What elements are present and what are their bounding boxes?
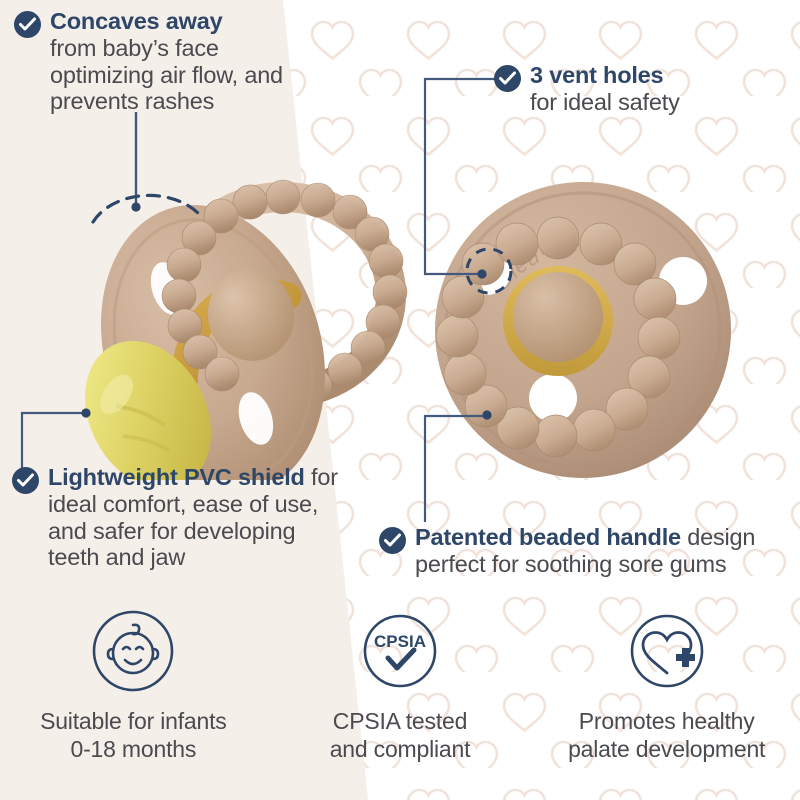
callout-concaves-line2: from baby’s face [50, 35, 283, 62]
pacifier-front-view-illustration: Bleu·La·La [425, 178, 755, 498]
heart-plus-icon [624, 608, 710, 694]
badge-suitable-infants: Suitable for infants 0-18 months [0, 608, 267, 763]
badge-label-line2: and compliant [330, 736, 471, 764]
callout-handle-line1-bold: Patented beaded handle [415, 524, 681, 550]
callout-pvc-line1-rest: for [305, 464, 338, 490]
cpsia-seal-text: CPSIA [374, 632, 426, 651]
cpsia-seal-icon: CPSIA [357, 608, 443, 694]
callout-pvc-line1-bold: Lightweight PVC shield [48, 464, 305, 490]
callout-handle-text: Patented beaded handle design perfect fo… [415, 524, 755, 578]
badge-palate-label: Promotes healthy palate development [568, 708, 765, 763]
badge-label-line2: palate development [568, 736, 765, 764]
callout-concaves-away: Concaves away from baby’s face optimizin… [14, 8, 283, 115]
callout-vent-line1: 3 vent holes [530, 62, 663, 88]
callout-vent-line2: for ideal safety [530, 89, 680, 116]
badge-label-line1: CPSIA tested [330, 708, 471, 736]
callout-beaded-handle: Patented beaded handle design perfect fo… [379, 524, 755, 578]
feature-badge-row: Suitable for infants 0-18 months CPSIA C… [0, 608, 800, 763]
check-circle-icon [12, 467, 39, 494]
callout-pvc-line2: ideal comfort, ease of use, [48, 491, 338, 518]
badge-label-line1: Promotes healthy [568, 708, 765, 736]
badge-label-line1: Suitable for infants [40, 708, 227, 736]
check-circle-icon [379, 527, 406, 554]
badge-cpsia-label: CPSIA tested and compliant [330, 708, 471, 763]
callout-pvc-shield: Lightweight PVC shield for ideal comfort… [12, 464, 338, 571]
check-circle-icon [494, 65, 521, 92]
pacifier-side-view-illustration [38, 160, 418, 480]
baby-face-icon [90, 608, 176, 694]
callout-vent-holes: 3 vent holes for ideal safety [494, 62, 680, 116]
infographic-canvas: Bleu·La·La [0, 0, 800, 800]
callout-concaves-text: Concaves away from baby’s face optimizin… [50, 8, 283, 115]
badge-suitable-infants-label: Suitable for infants 0-18 months [40, 708, 227, 763]
badge-label-line2: 0-18 months [40, 736, 227, 764]
badge-palate-development: Promotes healthy palate development [533, 608, 800, 763]
callout-concaves-line3: optimizing air flow, and [50, 62, 283, 89]
callout-pvc-text: Lightweight PVC shield for ideal comfort… [48, 464, 338, 571]
callout-handle-line2: perfect for soothing sore gums [415, 551, 755, 578]
callout-concaves-line4: prevents rashes [50, 88, 283, 115]
callout-vent-text: 3 vent holes for ideal safety [530, 62, 680, 116]
badge-cpsia: CPSIA CPSIA tested and compliant [267, 608, 534, 763]
check-circle-icon [14, 11, 41, 38]
callout-concaves-line1: Concaves away [50, 8, 222, 34]
callout-pvc-line3: and safer for developing [48, 518, 338, 545]
callout-handle-line1-rest: design [681, 524, 755, 550]
callout-pvc-line4: teeth and jaw [48, 544, 338, 571]
